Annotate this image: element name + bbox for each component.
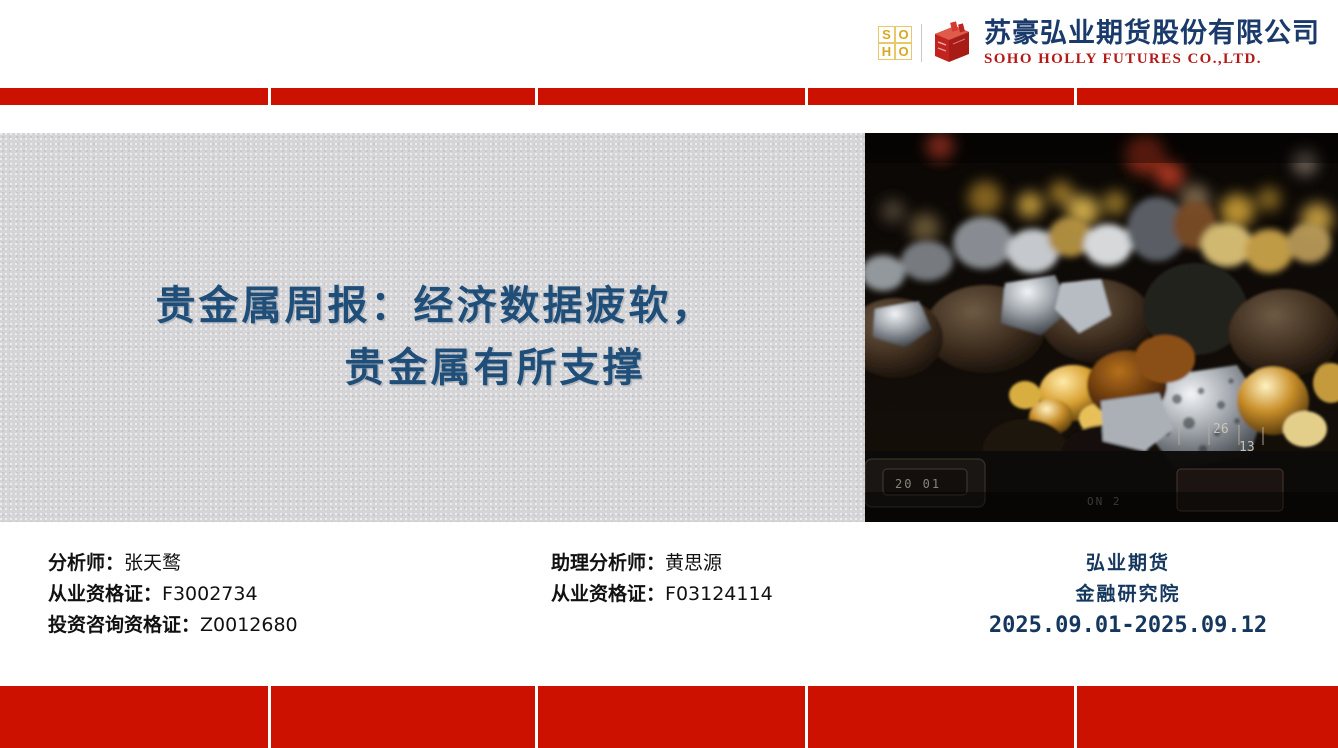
svg-text:20 01: 20 01 [895,477,941,491]
company-name-en: SOHO HOLLY FUTURES CO.,LTD. [984,50,1320,69]
monogram-cell-o2: O [895,43,912,60]
rule-segment [271,88,535,105]
company-name-cn: 苏豪弘业期货股份有限公司 [984,18,1320,49]
page-title-line-1: 贵金属周报：经济数据疲软， [40,275,830,337]
monogram-cell-s: S [878,26,895,43]
rule-segment [808,88,1074,105]
bottom-red-rule [0,686,1338,748]
red-cube-icon [929,20,975,66]
page-title-line-2: 贵金属有所支撑 [40,337,830,399]
organization-name: 弘业期货 [938,548,1318,579]
rule-segment [0,686,268,748]
top-red-rule [0,88,1338,105]
header: S O H O [0,0,1338,88]
rule-segment [0,88,268,105]
credits-block: 分析师：张天鹜 从业资格证：F3002734 投资咨询资格证：Z0012680 … [0,548,1338,658]
svg-text:13: 13 [1239,440,1255,455]
brand-wordmark: 苏豪弘业期货股份有限公司 SOHO HOLLY FUTURES CO.,LTD. [984,18,1320,69]
report-cover-slide: S O H O [0,0,1338,748]
analyst-name-label: 分析师： [48,552,124,574]
rule-segment [538,686,805,748]
analyst-name-line: 分析师：张天鹜 [48,548,298,579]
page-title: 贵金属周报：经济数据疲软， 贵金属有所支撑 [40,275,830,399]
analyst-credits: 分析师：张天鹜 从业资格证：F3002734 投资咨询资格证：Z0012680 [48,548,298,641]
hero-photo: 20 01 26 13 ON 2 [865,133,1338,522]
analyst-advisory-line: 投资咨询资格证：Z0012680 [48,610,298,641]
analyst-cert-value: F3002734 [162,583,258,605]
assistant-cert-line: 从业资格证：F03124114 [551,579,773,610]
rule-segment [538,88,805,105]
svg-text:26: 26 [1213,422,1229,437]
assistant-name-line: 助理分析师：黄思源 [551,548,773,579]
monogram-cell-o1: O [895,26,912,43]
assistant-name-value: 黄思源 [665,552,722,574]
rule-segment [808,686,1074,748]
brand-logo: S O H O [878,8,1320,78]
analyst-cert-line: 从业资格证：F3002734 [48,579,298,610]
assistant-cert-value: F03124114 [665,583,773,605]
analyst-advisory-value: Z0012680 [200,614,298,636]
logo-divider [921,24,922,62]
analyst-name-value: 张天鹜 [124,552,181,574]
rule-segment [1077,686,1338,748]
rule-segment [271,686,535,748]
report-date-range: 2025.09.01-2025.09.12 [938,610,1318,642]
cover-band: 贵金属周报：经济数据疲软， 贵金属有所支撑 [0,133,1338,522]
organization-credits: 弘业期货 金融研究院 2025.09.01-2025.09.12 [938,548,1318,642]
organization-department: 金融研究院 [938,579,1318,610]
rule-segment [1077,88,1338,105]
monogram-cell-h: H [878,43,895,60]
assistant-cert-label: 从业资格证： [551,583,665,605]
analyst-advisory-label: 投资咨询资格证： [48,614,200,636]
soho-monogram-icon: S O H O [878,26,912,60]
analyst-cert-label: 从业资格证： [48,583,162,605]
assistant-credits: 助理分析师：黄思源 从业资格证：F03124114 [551,548,773,610]
assistant-name-label: 助理分析师： [551,552,665,574]
